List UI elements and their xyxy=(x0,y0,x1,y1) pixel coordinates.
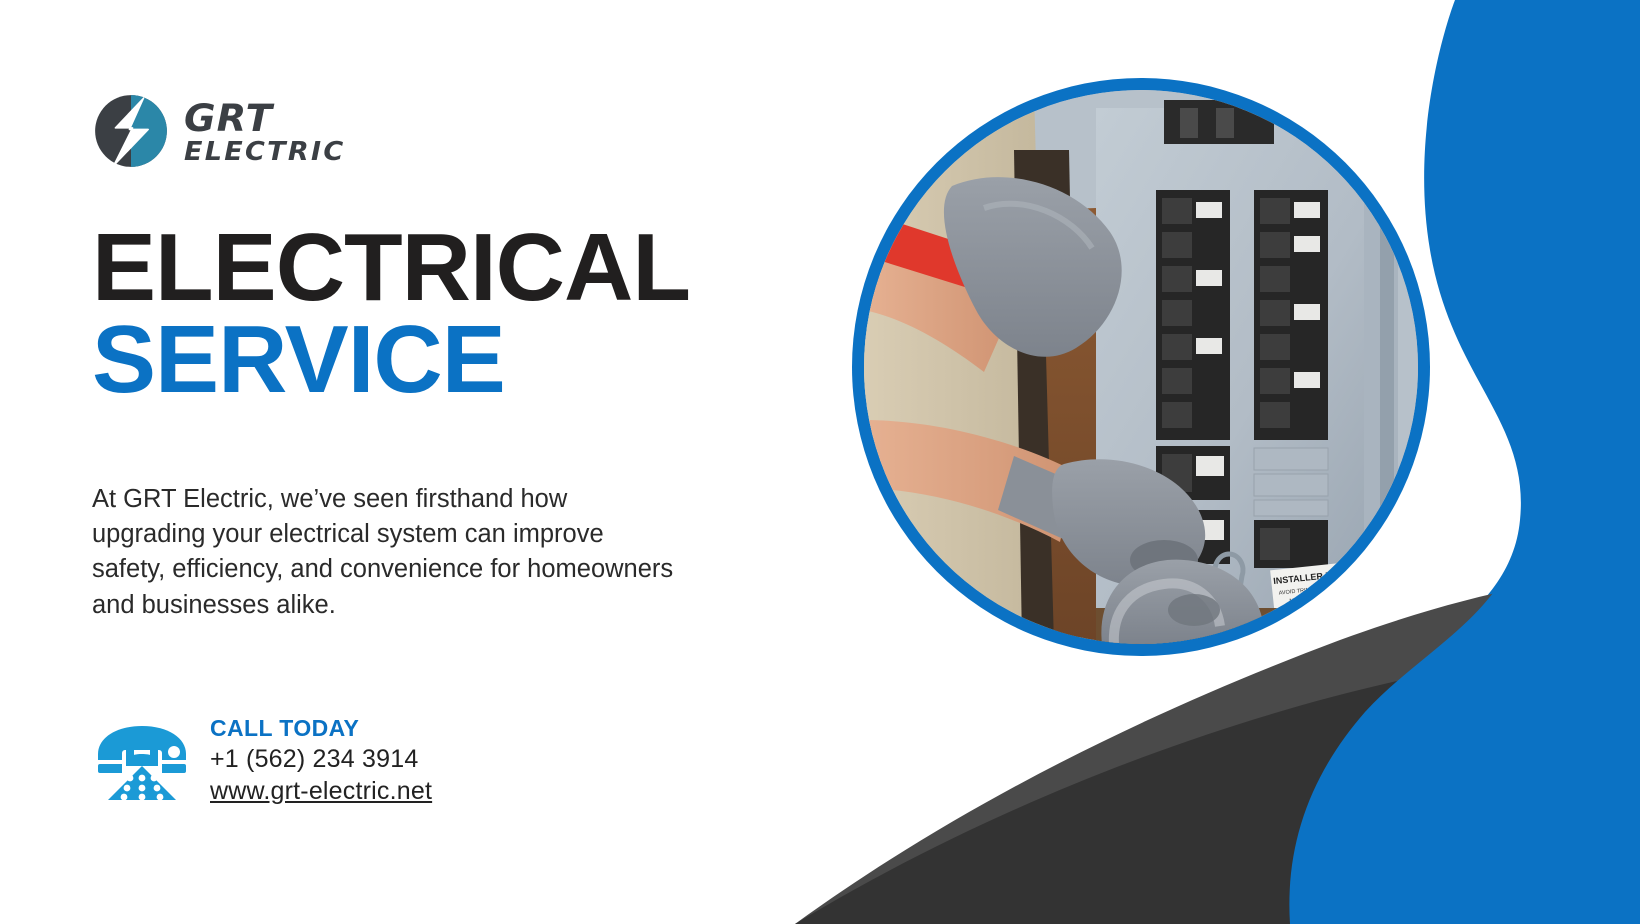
website-link[interactable]: www.grt-electric.net xyxy=(210,775,432,807)
phone-number[interactable]: +1 (562) 234 3914 xyxy=(210,743,432,775)
headline-line-1: ELECTRICAL xyxy=(92,222,732,314)
promotional-banner: INSTALLER PLEASE NOTE AVOID TRIM AROUND … xyxy=(0,0,1640,924)
breaker-panel-illustration: INSTALLER PLEASE NOTE AVOID TRIM AROUND … xyxy=(864,90,1418,644)
hero-photo: INSTALLER PLEASE NOTE AVOID TRIM AROUND … xyxy=(864,90,1418,644)
logo-text-primary: GRT xyxy=(184,100,345,137)
hero-photo-ring: INSTALLER PLEASE NOTE AVOID TRIM AROUND … xyxy=(852,78,1430,656)
content-column: GRT ELECTRIC ELECTRICAL SERVICE At GRT E… xyxy=(92,0,732,924)
dark-swoosh-dark xyxy=(795,647,1640,924)
headline-line-2: SERVICE xyxy=(92,314,732,406)
contact-block: CALL TODAY +1 (562) 234 3914 www.grt-ele… xyxy=(92,700,432,807)
blue-blob-overlap xyxy=(1289,540,1640,924)
body-paragraph: At GRT Electric, we’ve seen firsthand ho… xyxy=(92,482,677,623)
telephone-icon xyxy=(92,704,192,800)
headline: ELECTRICAL SERVICE xyxy=(92,222,732,406)
call-today-label: CALL TODAY xyxy=(210,714,432,743)
brand-logo[interactable]: GRT ELECTRIC xyxy=(92,92,339,170)
logo-text-secondary: ELECTRIC xyxy=(184,139,345,165)
logo-wordmark: GRT ELECTRIC xyxy=(184,98,339,165)
contact-details: CALL TODAY +1 (562) 234 3914 www.grt-ele… xyxy=(210,700,432,807)
lightning-bolt-circle-logo xyxy=(92,92,170,170)
